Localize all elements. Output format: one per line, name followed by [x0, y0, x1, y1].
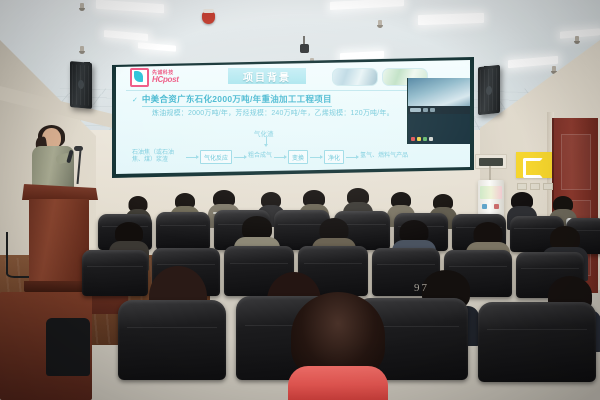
flow-arrow-icon — [186, 157, 198, 158]
presentation-slide: 先诚科技 HCpost 项目背景 ✓ 中美合资广东石化2000万吨/年重油加工工… — [116, 60, 470, 174]
ceiling-panel-light — [508, 56, 558, 68]
lectern-body — [29, 199, 89, 283]
video-dot — [417, 137, 421, 141]
dispenser-cold-tap-icon[interactable] — [482, 204, 487, 209]
flow-step-2: 粗合成气 — [248, 153, 272, 161]
sprinkler-icon — [80, 3, 84, 10]
wall-label — [517, 183, 527, 190]
flow-arrow-icon — [310, 157, 322, 158]
video-frame-bottom — [408, 114, 470, 144]
wall-display-panel — [475, 154, 507, 169]
video-chip — [423, 108, 428, 112]
plaque-stand — [489, 166, 491, 180]
flow-step-4: 净化 — [324, 150, 344, 164]
flow-arrow-icon — [234, 157, 246, 158]
plaque-screen — [479, 158, 503, 166]
door-panel — [561, 134, 591, 190]
wall-label — [543, 183, 553, 190]
wall-label — [530, 183, 540, 190]
process-flow-diagram: 石油焦（或石油焦、煤）浆渣 气化反应 粗合成气 变换 净化 氢气、燃料气产品 — [132, 146, 462, 168]
logo-english-text: HCpost — [152, 76, 179, 84]
lectern-top — [22, 184, 98, 200]
video-chip — [410, 108, 421, 112]
fire-alarm-icon — [202, 12, 215, 24]
sprinkler-icon — [552, 66, 556, 73]
ceiling-panel-light — [104, 30, 148, 41]
live-video-pane — [407, 78, 470, 144]
wall-speaker-left — [70, 61, 92, 109]
ceiling-panel-light — [560, 28, 600, 38]
flow-arrow-icon — [274, 157, 286, 158]
slide-title-banner: 项目背景 — [228, 68, 306, 84]
ceiling-camera-icon — [300, 44, 309, 53]
conference-seat — [82, 250, 148, 296]
sprinkler-icon — [378, 20, 382, 27]
conference-seat — [156, 212, 210, 250]
slide-bullet: ✓ 中美合资广东石化2000万吨/年重油加工工程项目 — [132, 93, 332, 107]
video-dots — [411, 137, 433, 141]
flow-gas-label: 气化渣 — [254, 128, 274, 138]
video-dot — [411, 137, 415, 141]
flow-input-label: 石油焦（或石油焦、煤）浆渣 — [132, 150, 184, 165]
company-logo: 先诚科技 HCpost — [130, 67, 204, 87]
sprinkler-icon — [80, 46, 84, 53]
seat-number: 97 — [414, 282, 429, 294]
dispenser-hot-tap-icon[interactable] — [494, 204, 499, 209]
ceiling-panel-light — [418, 13, 484, 25]
attendee-jacket — [288, 366, 388, 400]
flow-step-1: 气化反应 — [200, 150, 232, 164]
ceiling-panel-light — [340, 51, 384, 60]
sprinkler-icon — [575, 36, 579, 43]
foreground-attendee — [290, 292, 386, 400]
flow-step-3: 变换 — [288, 150, 308, 164]
video-dot — [429, 137, 433, 141]
wall-label-row — [517, 183, 553, 190]
conference-room-photo: 先诚科技 HCpost 项目背景 ✓ 中美合资广东石化2000万吨/年重油加工工… — [0, 0, 600, 400]
video-chip — [430, 108, 435, 112]
video-dot — [423, 137, 427, 141]
ceiling-panel-light — [330, 0, 404, 10]
yellow-safety-sign — [516, 152, 552, 178]
slide-heading: 中美合资广东石化2000万吨/年重油加工工程项目 — [142, 93, 332, 107]
conference-seat — [118, 300, 226, 380]
video-frame-top — [408, 78, 470, 108]
flow-arrow-icon — [346, 157, 358, 158]
ceiling-panel-light — [138, 42, 176, 51]
dispenser-label — [480, 186, 502, 199]
backpack — [46, 318, 90, 376]
presenter — [30, 128, 76, 190]
logo-mark-icon — [130, 68, 149, 87]
video-toolbar — [408, 106, 470, 114]
conference-seat — [478, 302, 596, 382]
wall-speaker-right — [478, 65, 500, 115]
thumbnail-image-1 — [332, 68, 378, 86]
bullet-marker-icon: ✓ — [132, 96, 138, 104]
projection-screen: 先诚科技 HCpost 项目背景 ✓ 中美合资广东石化2000万吨/年重油加工工… — [116, 60, 470, 174]
ceiling-panel-light — [96, 0, 164, 13]
flow-down-arrow-icon — [266, 137, 267, 145]
slide-subline: 炼油规模：2000万吨/年，芳烃规模：240万吨/年，乙烯规模：120万吨/年。 — [152, 108, 394, 118]
flow-output-label: 氢气、燃料气产品 — [360, 153, 408, 161]
speaker-cone — [78, 80, 84, 90]
